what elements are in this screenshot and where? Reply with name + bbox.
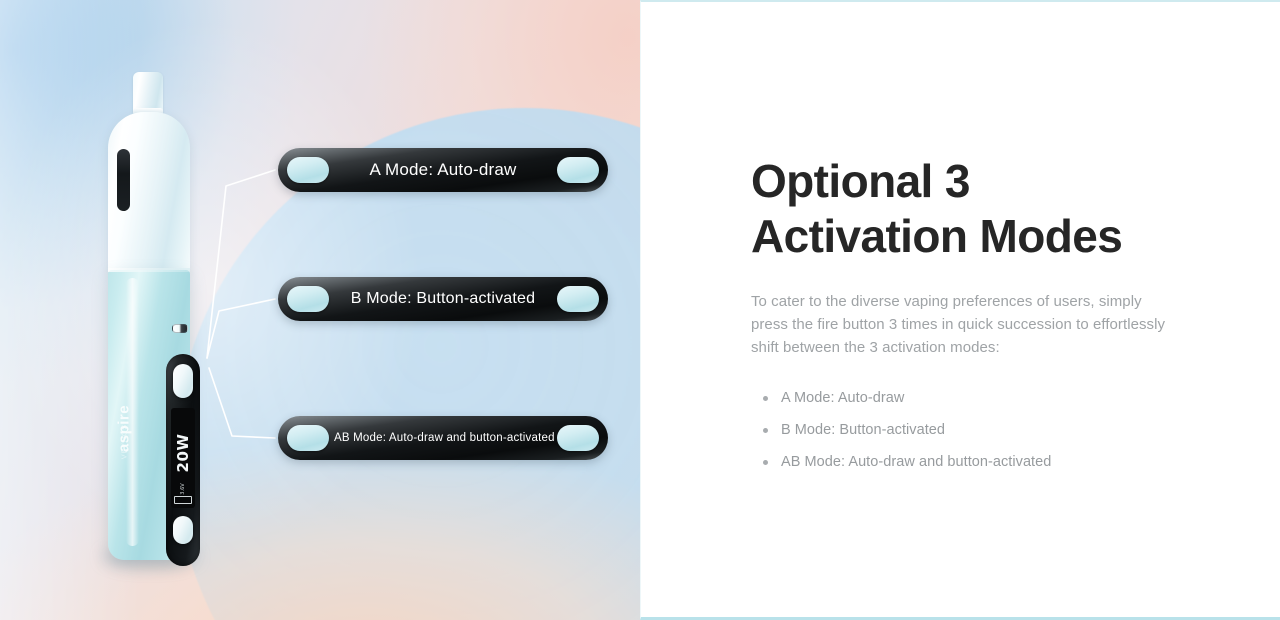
product-feature-slide: aspire VEYNOS 20W 3.6V A Mode: Auto-draw — [0, 0, 1280, 620]
pill-cap-left-icon — [287, 286, 329, 312]
device-oled-screen: 20W 3.6V — [171, 408, 195, 508]
bullet-icon — [763, 460, 768, 465]
device-model-label: VEYNOS — [122, 410, 129, 474]
product-image-panel: aspire VEYNOS 20W 3.6V A Mode: Auto-draw — [0, 0, 640, 620]
list-item: B Mode: Button-activated — [781, 419, 1200, 442]
page-title-line-2: Activation Modes — [751, 210, 1122, 262]
description-panel: Optional 3 Activation Modes To cater to … — [640, 0, 1280, 620]
list-item: A Mode: Auto-draw — [781, 387, 1200, 410]
callout-pill-ab-mode[interactable]: AB Mode: Auto-draw and button-activated — [278, 416, 608, 460]
pill-cap-right-icon — [557, 286, 599, 312]
airflow-slot-icon — [117, 149, 130, 211]
bullet-icon — [763, 396, 768, 401]
description-content: Optional 3 Activation Modes To cater to … — [751, 154, 1200, 483]
list-item-label: B Mode: Button-activated — [781, 422, 945, 438]
pill-cap-left-icon — [287, 157, 329, 183]
list-item-label: A Mode: Auto-draw — [781, 390, 904, 406]
fire-button[interactable] — [173, 364, 193, 398]
bullet-icon — [763, 428, 768, 433]
description-paragraph: To cater to the diverse vaping preferenc… — [751, 290, 1171, 359]
list-item-label: AB Mode: Auto-draw and button-activated — [781, 454, 1051, 470]
secondary-button[interactable] — [173, 516, 193, 544]
page-title-line-1: Optional 3 — [751, 155, 970, 207]
battery-icon — [174, 496, 192, 504]
list-item: AB Mode: Auto-draw and button-activated — [781, 451, 1200, 474]
pill-cap-left-icon — [287, 425, 329, 451]
pill-cap-right-icon — [557, 157, 599, 183]
callout-pill-b-mode[interactable]: B Mode: Button-activated — [278, 277, 608, 321]
callout-pill-a-mode[interactable]: A Mode: Auto-draw — [278, 148, 608, 192]
activation-modes-list: A Mode: Auto-draw B Mode: Button-activat… — [751, 387, 1200, 474]
usb-c-port-icon — [172, 324, 188, 333]
pill-cap-right-icon — [557, 425, 599, 451]
vape-device: aspire VEYNOS 20W 3.6V — [86, 72, 226, 564]
device-seam — [108, 268, 190, 272]
page-title: Optional 3 Activation Modes — [751, 154, 1171, 264]
